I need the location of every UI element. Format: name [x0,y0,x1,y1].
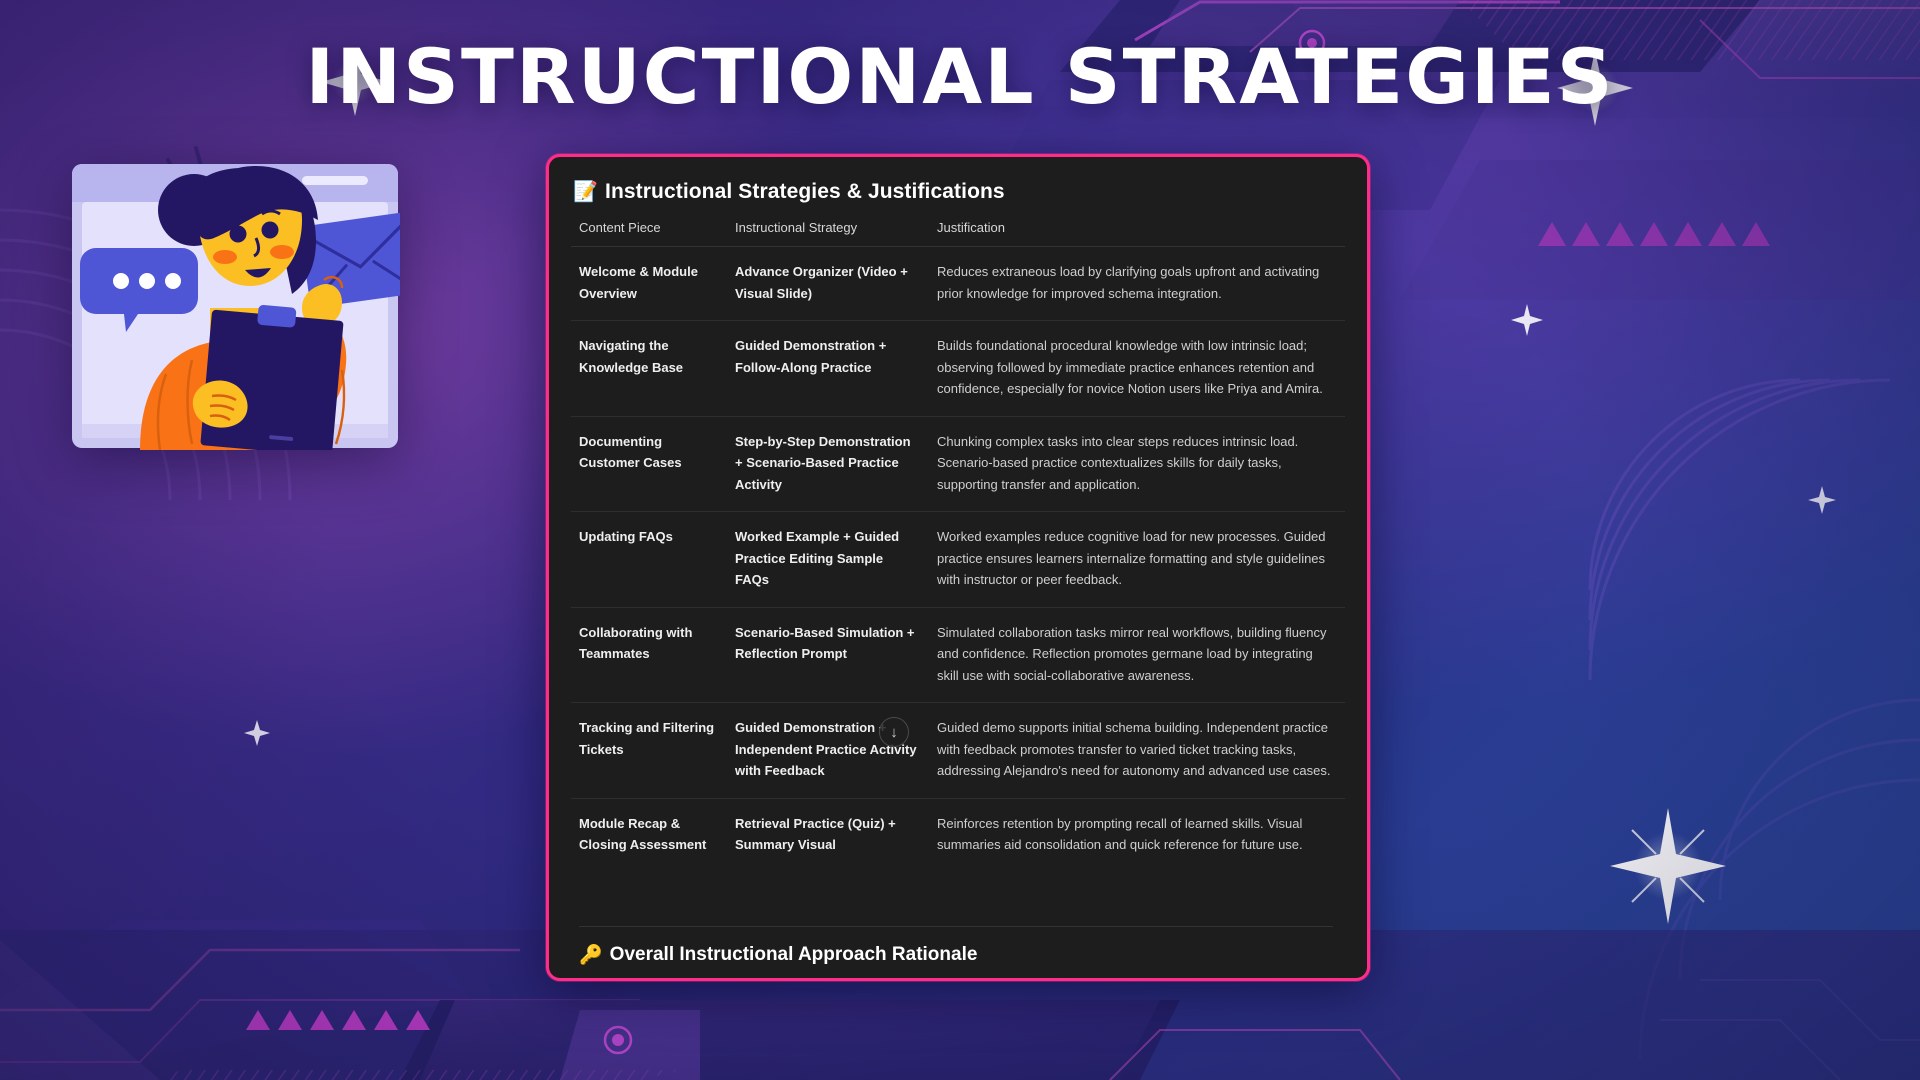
scroll-down-button[interactable]: ↓ [879,717,909,747]
cell-strategy: Step-by-Step Demonstration + Scenario-Ba… [727,416,929,512]
cell-strategy: Scenario-Based Simulation + Reflection P… [727,607,929,703]
rationale-item: ✓Guided demonstrations reduce cognitive … [579,981,1335,982]
strategies-table: Content Piece Instructional Strategy Jus… [571,220,1345,872]
cell-content-piece: Documenting Customer Cases [571,416,727,512]
table-row: Welcome & Module Overview Advance Organi… [571,247,1345,321]
cell-justification: Guided demo supports initial schema buil… [929,703,1345,799]
rationale-heading-text: Overall Instructional Approach Rationale [610,944,978,966]
column-header-justification: Justification [929,220,1345,247]
cell-justification: Chunking complex tasks into clear steps … [929,416,1345,512]
cell-justification: Worked examples reduce cognitive load fo… [929,512,1345,608]
table-row: Tracking and Filtering Tickets Guided De… [571,703,1345,799]
cell-content-piece: Tracking and Filtering Tickets [571,703,727,799]
table-header-row: Content Piece Instructional Strategy Jus… [571,220,1345,247]
rationale-heading: 🔑 Overall Instructional Approach Rationa… [579,943,1335,967]
memo-icon: 📝 [573,179,598,204]
cell-content-piece: Collaborating with Teammates [571,607,727,703]
column-header-content-piece: Content Piece [571,220,727,247]
instructional-strategies-card: 📝 Instructional Strategies & Justificati… [546,154,1370,981]
cell-content-piece: Navigating the Knowledge Base [571,321,727,417]
rationale-section: 🔑 Overall Instructional Approach Rationa… [571,927,1345,982]
table-row: Navigating the Knowledge Base Guided Dem… [571,321,1345,417]
cell-content-piece: Welcome & Module Overview [571,247,727,321]
page-title: INSTRUCTIONAL STRATEGIES [0,38,1920,116]
cell-strategy: Advance Organizer (Video + Visual Slide) [727,247,929,321]
woman-with-clipboard-illustration [70,162,400,450]
table-row: Updating FAQs Worked Example + Guided Pr… [571,512,1345,608]
table-row: Collaborating with Teammates Scenario-Ba… [571,607,1345,703]
cell-strategy: Worked Example + Guided Practice Editing… [727,512,929,608]
card-heading-text: Instructional Strategies & Justification… [605,180,1005,204]
table-row: Module Recap & Closing Assessment Retrie… [571,798,1345,872]
card-heading: 📝 Instructional Strategies & Justificati… [573,179,1345,204]
cell-justification: Reduces extraneous load by clarifying go… [929,247,1345,321]
cell-content-piece: Updating FAQs [571,512,727,608]
cell-content-piece: Module Recap & Closing Assessment [571,798,727,872]
column-header-instructional-strategy: Instructional Strategy [727,220,929,247]
cell-justification: Reinforces retention by prompting recall… [929,798,1345,872]
cell-justification: Builds foundational procedural knowledge… [929,321,1345,417]
key-icon: 🔑 [579,943,603,967]
cell-strategy: Guided Demonstration + Follow-Along Prac… [727,321,929,417]
table-row: Documenting Customer Cases Step-by-Step … [571,416,1345,512]
cell-strategy: Retrieval Practice (Quiz) + Summary Visu… [727,798,929,872]
cell-justification: Simulated collaboration tasks mirror rea… [929,607,1345,703]
